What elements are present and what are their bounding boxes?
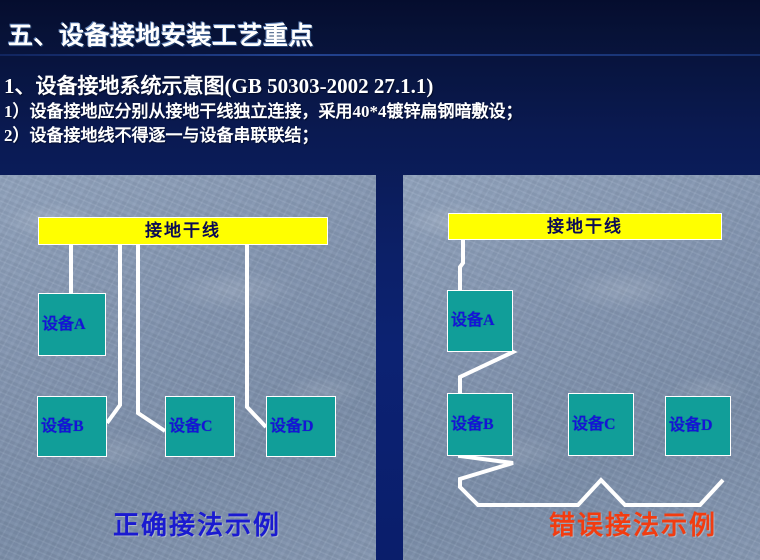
device-box-c: 设备C xyxy=(568,393,634,456)
bullet-item-1: 1、设备接地系统示意图(GB 50303-2002 27.1.1) xyxy=(4,72,756,100)
device-box-b: 设备B xyxy=(37,396,107,457)
device-label-a: 设备A xyxy=(451,313,495,329)
device-label-b: 设备B xyxy=(451,417,494,433)
device-label-c: 设备C xyxy=(169,419,213,435)
diagram-panel-correct: 接地干线 设备A 设备B 设备C 设备D 正确接法示例 xyxy=(0,175,376,560)
slide-canvas: 五、设备接地安装工艺重点 1、设备接地系统示意图(GB 50303-2002 2… xyxy=(0,0,760,560)
diagram-panel-wrong: 接地干线 设备A 设备B 设备C 设备D 错误接法示例 xyxy=(403,175,760,560)
page-title: 五、设备接地安装工艺重点 xyxy=(8,16,314,52)
title-divider xyxy=(0,54,760,56)
caption-wrong-method: 错误接法示例 xyxy=(549,505,717,542)
wire-to-device-c xyxy=(138,244,165,431)
device-box-c: 设备C xyxy=(165,396,235,457)
bullet-item-2: 1）设备接地应分别从接地干线独立连接，采用40*4镀锌扁钢暗敷设； xyxy=(4,100,756,124)
busbar-correct: 接地干线 xyxy=(38,217,328,245)
device-label-c: 设备C xyxy=(572,417,616,433)
bullet-list: 1、设备接地系统示意图(GB 50303-2002 27.1.1) 1）设备接地… xyxy=(4,72,756,148)
wire-series-chain xyxy=(460,240,723,505)
wire-to-device-d xyxy=(247,244,266,427)
device-box-a: 设备A xyxy=(38,293,106,356)
device-label-d: 设备D xyxy=(669,418,713,434)
wire-to-device-b xyxy=(107,244,120,423)
device-box-d: 设备D xyxy=(266,396,336,457)
bullet-item-3: 2）设备接地线不得逐一与设备串联联结； xyxy=(4,124,756,148)
device-box-d: 设备D xyxy=(665,396,731,456)
caption-correct-method: 正确接法示例 xyxy=(113,505,281,542)
device-label-a: 设备A xyxy=(42,317,86,333)
device-label-d: 设备D xyxy=(270,419,314,435)
busbar-wrong: 接地干线 xyxy=(448,213,722,240)
device-box-a: 设备A xyxy=(447,290,513,352)
device-label-b: 设备B xyxy=(41,419,84,435)
slide-title-bar: 五、设备接地安装工艺重点 xyxy=(0,0,760,56)
device-box-b: 设备B xyxy=(447,393,513,456)
